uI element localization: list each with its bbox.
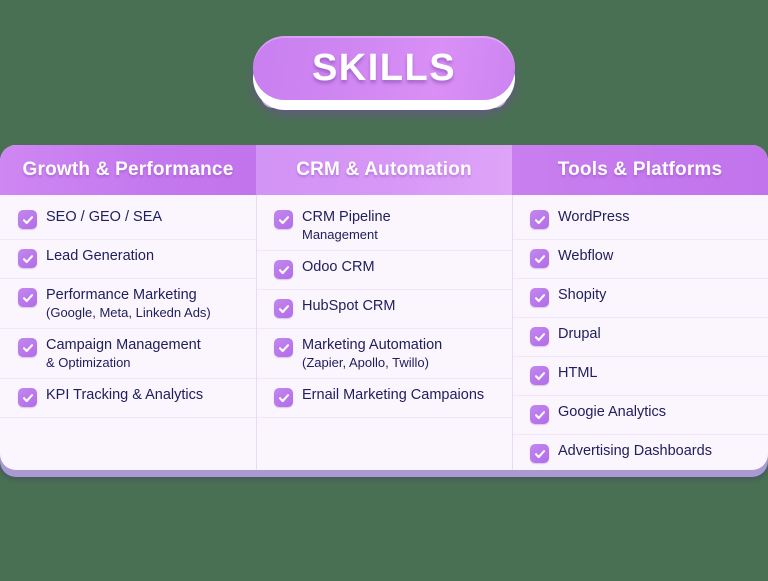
skill-sublabel: & Optimization <box>46 355 201 372</box>
column-header: Growth & Performance <box>0 145 256 195</box>
skill-label: Performance Marketing <box>46 286 211 305</box>
check-icon <box>530 288 549 307</box>
skill-item[interactable]: CRM PipelineManagement <box>256 201 512 251</box>
column-header-title: Growth & Performance <box>23 159 234 181</box>
skill-text: Marketing Automation(Zapier, Apollo, Twi… <box>302 336 442 371</box>
check-icon <box>274 338 293 357</box>
skill-item[interactable]: Drupal <box>512 318 768 357</box>
skill-item[interactable]: Campaign Management& Optimization <box>0 329 256 379</box>
column-header-title: Tools & Platforms <box>558 159 723 181</box>
skill-text: SEO / GEO / SEA <box>46 208 162 227</box>
skill-item[interactable]: HubSpot CRM <box>256 290 512 329</box>
skill-sublabel: (Google, Meta, Linkedn Ads) <box>46 305 211 322</box>
skill-item[interactable]: Googie Analytics <box>512 396 768 435</box>
column-header: CRM & Automation <box>256 145 512 195</box>
skill-text: Advertising Dashboards <box>558 442 712 461</box>
check-icon <box>18 249 37 268</box>
check-icon <box>18 388 37 407</box>
skill-label: CRM Pipeline <box>302 208 391 227</box>
check-icon <box>274 260 293 279</box>
check-icon <box>530 327 549 346</box>
check-icon <box>18 338 37 357</box>
skill-label: HTML <box>558 364 597 383</box>
check-icon <box>530 249 549 268</box>
skill-text: CRM PipelineManagement <box>302 208 391 243</box>
skill-item[interactable]: WordPress <box>512 201 768 240</box>
check-icon <box>530 366 549 385</box>
skill-text: WordPress <box>558 208 629 227</box>
skill-label: Googie Analytics <box>558 403 666 422</box>
skill-text: Googie Analytics <box>558 403 666 422</box>
check-icon <box>274 299 293 318</box>
skills-badge-label: SKILLS <box>312 49 456 87</box>
skill-item[interactable]: KPI Tracking & Analytics <box>0 379 256 418</box>
skill-item[interactable]: SEO / GEO / SEA <box>0 201 256 240</box>
skill-text: Odoo CRM <box>302 258 375 277</box>
skill-item[interactable]: Marketing Automation(Zapier, Apollo, Twi… <box>256 329 512 379</box>
skill-label: Lead Generation <box>46 247 154 266</box>
skill-item[interactable]: HTML <box>512 357 768 396</box>
skill-text: KPI Tracking & Analytics <box>46 386 203 405</box>
skill-label: HubSpot CRM <box>302 297 395 316</box>
skill-label: Drupal <box>558 325 601 344</box>
check-icon <box>18 210 37 229</box>
column-header: Tools & Platforms <box>512 145 768 195</box>
skill-label: Shopity <box>558 286 606 305</box>
skill-label: WordPress <box>558 208 629 227</box>
skill-label: Odoo CRM <box>302 258 375 277</box>
column-body: WordPressWebflowShopityDrupalHTMLGoogie … <box>512 195 768 470</box>
skill-text: Lead Generation <box>46 247 154 266</box>
check-icon <box>18 288 37 307</box>
skill-text: Performance Marketing(Google, Meta, Link… <box>46 286 211 321</box>
column-body: SEO / GEO / SEALead GenerationPerformanc… <box>0 195 256 470</box>
skill-label: Marketing Automation <box>302 336 442 355</box>
column-header-title: CRM & Automation <box>296 159 472 181</box>
skill-label: Ernail Marketing Campaions <box>302 386 484 405</box>
skills-badge: SKILLS <box>253 36 515 100</box>
skills-column: Growth & PerformanceSEO / GEO / SEALead … <box>0 145 256 470</box>
skill-text: Campaign Management& Optimization <box>46 336 201 371</box>
column-body: CRM PipelineManagementOdoo CRMHubSpot CR… <box>256 195 512 470</box>
skills-badge-container: SKILLS <box>0 36 768 116</box>
skills-column: Tools & PlatformsWordPressWebflowShopity… <box>512 145 768 470</box>
skill-label: Advertising Dashboards <box>558 442 712 461</box>
skill-item[interactable]: Advertising Dashboards <box>512 435 768 470</box>
skills-column: CRM & AutomationCRM PipelineManagementOd… <box>256 145 512 470</box>
skill-item[interactable]: Shopity <box>512 279 768 318</box>
skill-item[interactable]: Performance Marketing(Google, Meta, Link… <box>0 279 256 329</box>
check-icon <box>530 405 549 424</box>
check-icon <box>530 444 549 463</box>
skill-text: Drupal <box>558 325 601 344</box>
skill-text: Webflow <box>558 247 613 266</box>
skill-sublabel: (Zapier, Apollo, Twillo) <box>302 355 442 372</box>
skill-label: Webflow <box>558 247 613 266</box>
skills-card: Growth & PerformanceSEO / GEO / SEALead … <box>0 145 768 470</box>
skill-label: Campaign Management <box>46 336 201 355</box>
skill-item[interactable]: Odoo CRM <box>256 251 512 290</box>
skill-text: Ernail Marketing Campaions <box>302 386 484 405</box>
skill-label: SEO / GEO / SEA <box>46 208 162 227</box>
skill-item[interactable]: Lead Generation <box>0 240 256 279</box>
skill-item[interactable]: Ernail Marketing Campaions <box>256 379 512 418</box>
skill-text: HubSpot CRM <box>302 297 395 316</box>
skill-sublabel: Management <box>302 227 391 244</box>
check-icon <box>274 210 293 229</box>
skill-text: HTML <box>558 364 597 383</box>
check-icon <box>530 210 549 229</box>
skill-text: Shopity <box>558 286 606 305</box>
skill-label: KPI Tracking & Analytics <box>46 386 203 405</box>
check-icon <box>274 388 293 407</box>
skill-item[interactable]: Webflow <box>512 240 768 279</box>
